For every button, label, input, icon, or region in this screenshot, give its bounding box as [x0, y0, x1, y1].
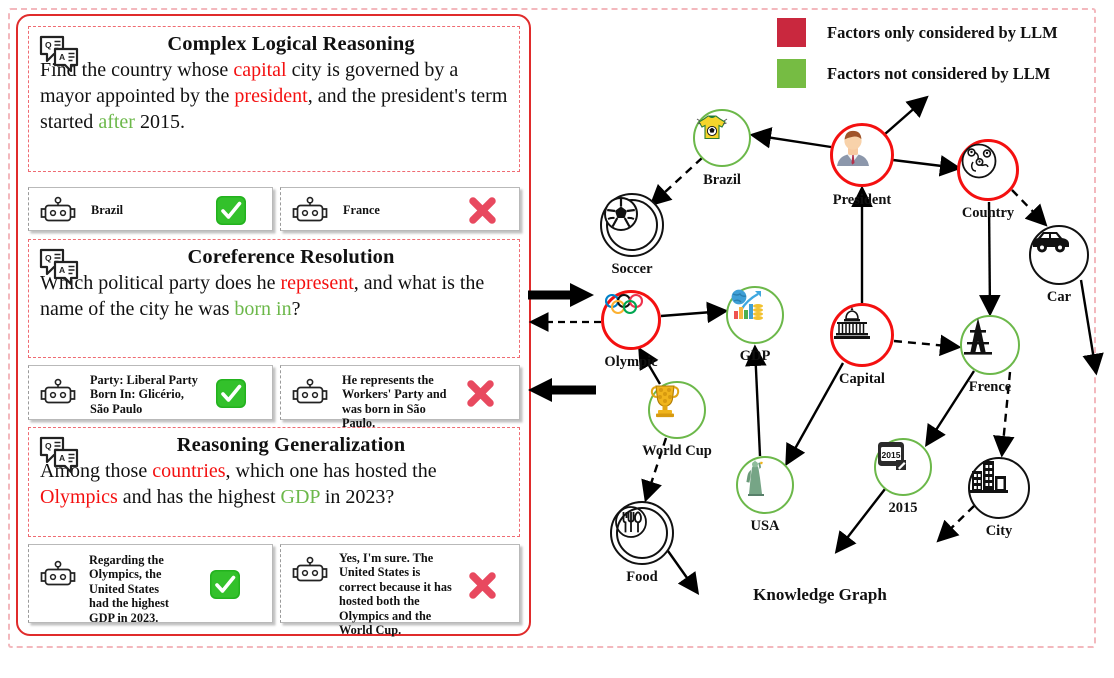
graph-node-label-worldcup: World Cup [642, 443, 712, 460]
edge-brazil-soccer [652, 158, 702, 204]
gdp-chart-icon [728, 288, 764, 322]
graph-node-country[interactable] [957, 139, 1019, 201]
soccer-ball-icon [602, 195, 640, 233]
answer-text: France [343, 203, 453, 217]
q-part-highlight: president [234, 85, 307, 107]
graph-node-label-frence: Frence [969, 379, 1011, 396]
svg-text:A: A [59, 265, 65, 275]
trophy-icon [650, 383, 680, 419]
q-part-highlight: after [98, 111, 135, 133]
eiffel-tower-icon [962, 317, 994, 355]
knowledge-graph-caption: Knowledge Graph [753, 585, 887, 605]
graph-node-capital[interactable] [830, 303, 894, 367]
question-text: Among those countries, which one has hos… [29, 457, 519, 516]
city-buildings-icon [970, 459, 1008, 493]
capitol-building-icon [833, 306, 871, 340]
answer-text: Yes, I'm sure. The United States is corr… [339, 551, 459, 637]
qa-speech-bubbles-icon: Q A [38, 34, 82, 72]
svg-text:Q: Q [45, 441, 52, 451]
answer-text: Regarding the Olympics, the United State… [89, 553, 181, 625]
question-title: Complex Logical Reasoning [29, 33, 519, 56]
edge-2015-outside [837, 489, 885, 551]
statue-of-liberty-icon [738, 458, 770, 496]
qa-speech-bubbles-icon: Q A [38, 247, 82, 285]
graph-node-label-food: Food [626, 569, 657, 586]
graph-node-food[interactable] [610, 501, 674, 565]
edge-president-brazil [753, 135, 831, 147]
olympic-rings-icon [604, 293, 644, 315]
edge-capital-usa [787, 363, 843, 463]
answer-text: Brazil [91, 203, 201, 217]
calendar-2015-icon: 2015 [876, 440, 908, 472]
answer-card-incorrect[interactable]: France [280, 187, 520, 231]
edge-frence-2015 [927, 371, 974, 444]
graph-node-gdp[interactable] [726, 286, 784, 344]
president-person-icon [833, 126, 873, 166]
graph-node-label-brazil: Brazil [703, 172, 741, 189]
question-text: Which political party does he represent,… [29, 269, 519, 328]
answer-card-correct[interactable]: Party: Liberal Party Born In: Glicério, … [28, 365, 273, 420]
graph-node-label-president: President [833, 192, 892, 209]
q-part-highlight: GDP [281, 486, 320, 508]
svg-text:A: A [59, 453, 65, 463]
graph-node-president[interactable] [830, 123, 894, 187]
question-block-3: Q A Reasoning Generalization Among those… [28, 427, 520, 537]
q-part-highlight: Olympics [40, 486, 118, 508]
q-part-highlight: countries [152, 460, 225, 482]
edge-president-outside [885, 98, 926, 134]
question-title: Coreference Resolution [29, 246, 519, 269]
q-part-highlight: capital [233, 59, 286, 81]
qa-speech-bubbles-icon: Q A [38, 435, 82, 473]
graph-node-2015[interactable]: 2015 [874, 438, 932, 496]
answer-card-incorrect[interactable]: He represents the Workers' Party and was… [280, 365, 520, 420]
graph-node-label-soccer: Soccer [611, 261, 652, 278]
question-block-2: Q A Coreference Resolution Which politic… [28, 239, 520, 358]
graph-node-label-country: Country [962, 205, 1014, 222]
graph-node-car[interactable] [1029, 225, 1089, 285]
answer-text: He represents the Workers' Party and was… [342, 373, 454, 431]
car-icon [1031, 227, 1071, 253]
graph-node-olympic[interactable] [601, 290, 661, 350]
graph-node-label-city: City [986, 523, 1013, 540]
answer-card-correct[interactable]: Regarding the Olympics, the United State… [28, 544, 273, 623]
q-part-highlight: born in [234, 298, 291, 320]
edge-city-outside [939, 506, 974, 540]
knowledge-graph: Brazil Soccer President [540, 0, 1114, 678]
q-part: , which one has hosted the [226, 460, 437, 482]
edge-president-country [893, 160, 958, 168]
graph-node-city[interactable] [968, 457, 1030, 519]
question-title: Reasoning Generalization [29, 434, 519, 457]
edge-capital-frence [894, 341, 958, 347]
edge-car-outside [1081, 280, 1096, 372]
svg-text:2015: 2015 [882, 450, 901, 460]
svg-text:A: A [59, 52, 65, 62]
q-part: ? [292, 298, 301, 320]
graph-node-label-capital: Capital [839, 371, 885, 388]
graph-node-label-gdp: GDP [740, 348, 771, 365]
edge-food-outside [668, 551, 697, 592]
graph-node-label-olympic: Olympic [604, 354, 657, 371]
graph-node-frence[interactable] [960, 315, 1020, 375]
q-part-highlight: represent [280, 272, 353, 294]
graph-node-soccer[interactable] [600, 193, 664, 257]
q-part: 2015. [135, 111, 185, 133]
plate-cutlery-icon [612, 503, 650, 541]
svg-text:Q: Q [45, 253, 52, 263]
graph-node-label-car: Car [1047, 289, 1071, 306]
question-block-1: Q A Complex Logical Reasoning Find the c… [28, 26, 520, 172]
graph-node-label-2015: 2015 [889, 500, 918, 517]
answer-text: Party: Liberal Party Born In: Glicério, … [90, 373, 206, 416]
brazil-jersey-icon [695, 111, 729, 145]
q-part: in 2023? [320, 486, 394, 508]
edge-country-car [1012, 190, 1045, 224]
globe-network-icon [960, 142, 998, 180]
q-part: and has the highest [118, 486, 281, 508]
graph-node-usa[interactable] [736, 456, 794, 514]
graph-node-label-usa: USA [750, 518, 779, 535]
question-text: Find the country whose capital city is g… [29, 56, 519, 141]
answer-card-incorrect[interactable]: Yes, I'm sure. The United States is corr… [280, 544, 520, 623]
svg-text:Q: Q [45, 40, 52, 50]
graph-node-brazil[interactable] [693, 109, 751, 167]
edge-olympic-gdp [661, 311, 725, 316]
answer-card-correct[interactable]: Brazil [28, 187, 273, 231]
graph-node-worldcup[interactable] [648, 381, 706, 439]
